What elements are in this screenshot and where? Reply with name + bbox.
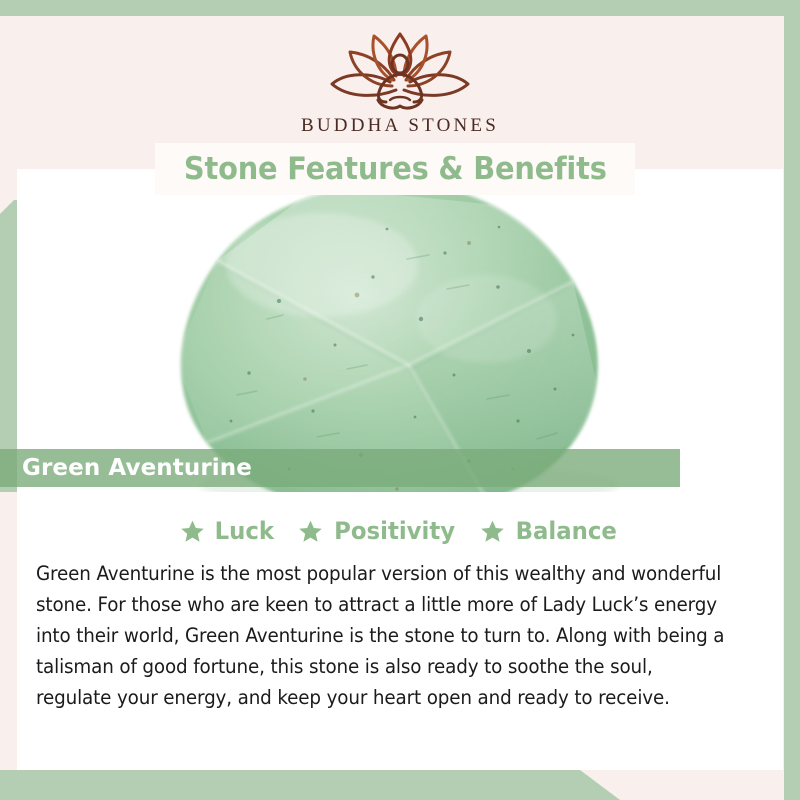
keyword-item-luck: Luck bbox=[180, 517, 276, 545]
keyword-label: Luck bbox=[215, 517, 274, 545]
stone-photo-panel bbox=[17, 169, 783, 492]
frame-top-bar bbox=[0, 0, 800, 16]
frame-bottom-bar bbox=[0, 770, 620, 800]
green-aventurine-stone-image bbox=[17, 169, 783, 492]
brand-header: BUDDHA STONES bbox=[0, 16, 800, 143]
poster-root: BUDDHA STONES bbox=[0, 0, 800, 800]
keyword-label: Positivity bbox=[334, 517, 455, 545]
keyword-item-positivity: Positivity bbox=[298, 517, 458, 545]
star-icon bbox=[180, 519, 205, 544]
keyword-item-balance: Balance bbox=[480, 517, 620, 545]
keyword-label: Balance bbox=[516, 517, 617, 545]
keyword-list: Luck Positivity Balance bbox=[17, 517, 783, 545]
title-banner: Stone Features & Benefits bbox=[155, 143, 635, 195]
page-title: Stone Features & Benefits bbox=[184, 151, 607, 187]
lotus-meditation-icon bbox=[316, 28, 484, 112]
star-icon bbox=[480, 519, 505, 544]
stone-name-band: Green Aventurine bbox=[0, 449, 680, 487]
content-panel: Luck Positivity Balance Green Aventurine… bbox=[17, 492, 783, 770]
brand-name: BUDDHA STONES bbox=[301, 115, 499, 137]
stone-description: Green Aventurine is the most popular ver… bbox=[36, 558, 730, 713]
stone-name-label: Green Aventurine bbox=[22, 455, 252, 481]
star-icon bbox=[298, 519, 323, 544]
